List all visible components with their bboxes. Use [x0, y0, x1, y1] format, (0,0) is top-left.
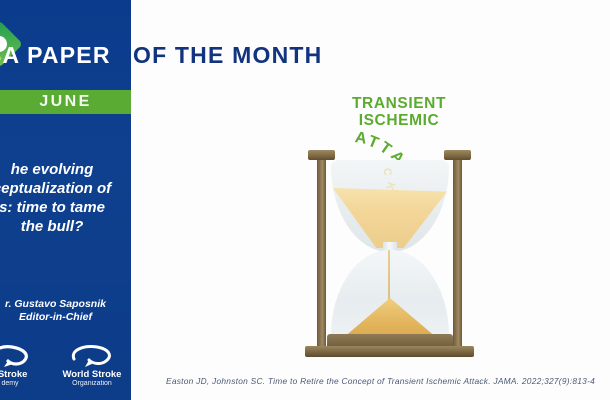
hourglass-post-left	[317, 158, 326, 348]
academy-logo-name: l Stroke	[0, 370, 46, 380]
paper-title-line-3: s: time to tame	[0, 198, 132, 217]
tia-wordmark: TRANSIENT ISCHEMIC	[334, 95, 464, 129]
organization-logo-name: World Stroke	[56, 370, 128, 380]
academy-logo-sub: demy	[0, 380, 46, 388]
author-block: r. Gustavo Saposnik Editor-in-Chief	[0, 298, 133, 324]
hourglass-cap-left	[308, 150, 335, 160]
slide-canvas: JUNE he evolving ceptualization of s: ti…	[0, 0, 610, 400]
falling-letters-group: C K	[381, 164, 407, 214]
falling-letter-1: C	[381, 168, 394, 177]
tia-wordmark-line-2: ISCHEMIC	[334, 112, 464, 129]
author-name: r. Gustavo Saposnik	[0, 298, 133, 311]
headline-secondary: OF THE MONTH	[133, 42, 322, 69]
world-stroke-organization-logo: World Stroke Organization	[56, 344, 128, 388]
month-badge-label: JUNE	[39, 93, 91, 111]
paper-title-line-2: ceptualization of	[0, 179, 132, 198]
hourglass-cap-right	[444, 150, 471, 160]
falling-letter-2: K	[383, 180, 397, 192]
organization-logo-sub: Organization	[56, 380, 128, 388]
hourglass-icon: C K	[305, 150, 475, 365]
month-badge: JUNE	[0, 90, 131, 114]
citation-caption: Easton JD, Johnston SC. Time to Retire t…	[166, 376, 602, 387]
hourglass-post-right	[453, 158, 462, 348]
hourglass-base	[305, 346, 474, 357]
paper-title-line-4: the bull?	[0, 217, 132, 236]
world-stroke-academy-logo: l Stroke demy	[0, 344, 46, 388]
tia-wordmark-line-1: TRANSIENT	[334, 95, 464, 112]
headline-primary: SA PAPER	[0, 42, 111, 69]
paper-title-line-1: he evolving	[0, 160, 132, 179]
organization-logos: l Stroke demy World Stroke Organization	[0, 340, 134, 388]
swoosh-icon	[0, 344, 34, 368]
swoosh-icon	[68, 344, 116, 368]
author-role: Editor-in-Chief	[0, 311, 133, 324]
paper-title: he evolving ceptualization of s: time to…	[0, 160, 132, 236]
